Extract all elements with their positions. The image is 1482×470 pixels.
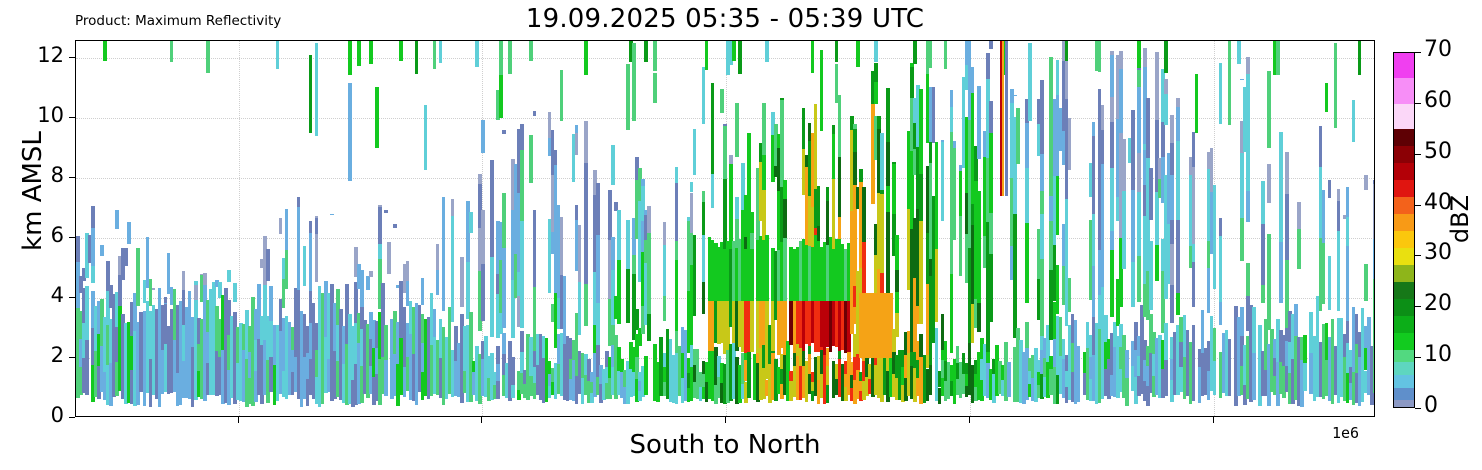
colorbar-segment (1394, 265, 1414, 283)
reflectivity-cell (1040, 191, 1044, 214)
reflectivity-cell (529, 135, 533, 183)
x-tick-mark (481, 417, 482, 423)
reflectivity-cell (103, 41, 107, 61)
reflectivity-cell (977, 266, 981, 303)
reflectivity-cell (910, 67, 914, 97)
reflectivity-cell (499, 41, 503, 75)
reflectivity-cell (1261, 285, 1265, 303)
colorbar-segment (1394, 163, 1414, 181)
reflectivity-cell (1346, 187, 1350, 217)
reflectivity-cell (1337, 231, 1341, 311)
reflectivity-cell (1040, 259, 1044, 336)
reflectivity-cell (369, 271, 373, 277)
reflectivity-cell (575, 205, 579, 221)
reflectivity-cell (100, 245, 104, 256)
y-tick-label: 10 (37, 103, 64, 127)
reflectivity-cell (182, 271, 186, 289)
reflectivity-cell (1110, 51, 1114, 55)
colorbar-tick-mark (1415, 306, 1421, 307)
reflectivity-cell (496, 381, 500, 399)
reflectivity-cell (895, 270, 899, 292)
reflectivity-cell (675, 167, 679, 184)
reflectivity-cell (1373, 180, 1375, 184)
reflectivity-cell (502, 193, 506, 248)
reflectivity-cell (886, 88, 890, 143)
reflectivity-cell (1176, 293, 1180, 315)
colorbar-tick-label: 10 (1424, 342, 1452, 367)
reflectivity-cell (1131, 119, 1135, 190)
colorbar-segment (1394, 362, 1414, 375)
reflectivity-cell (880, 133, 884, 189)
x-axis-label: South to North (75, 430, 1375, 460)
reflectivity-cell (1219, 63, 1223, 124)
colorbar-tick-mark (1415, 408, 1421, 409)
reflectivity-cell (315, 43, 319, 137)
reflectivity-cell (1056, 60, 1060, 95)
reflectivity-cell (451, 271, 455, 322)
reflectivity-cell (944, 41, 948, 69)
colorbar-tick-mark (1415, 205, 1421, 206)
reflectivity-cell (895, 292, 899, 313)
reflectivity-cell (626, 220, 630, 268)
reflectivity-cell (626, 64, 630, 130)
reflectivity-cell (950, 274, 954, 353)
colorbar-label: dBZ (1446, 159, 1474, 279)
reflectivity-cell (520, 150, 524, 221)
colorbar-segment (1394, 146, 1414, 164)
reflectivity-cell (1237, 41, 1241, 64)
reflectivity-cell (1077, 346, 1081, 402)
reflectivity-cell (1155, 52, 1159, 82)
reflectivity-cell (1170, 285, 1174, 323)
reflectivity-cell (814, 104, 818, 130)
reflectivity-cell (641, 179, 645, 185)
reflectivity-cell (1025, 223, 1029, 269)
x-tick-mark (1213, 417, 1214, 423)
reflectivity-cell (1373, 184, 1375, 239)
reflectivity-cell (91, 266, 95, 283)
reflectivity-cell (1040, 82, 1044, 154)
y-tick-mark (69, 417, 75, 418)
reflectivity-cell (762, 155, 766, 189)
reflectivity-cell (913, 41, 917, 64)
reflectivity-cell (384, 325, 388, 360)
reflectivity-cell (702, 191, 706, 202)
reflectivity-cell (729, 155, 733, 164)
reflectivity-cell (1098, 41, 1102, 72)
reflectivity-cell (1276, 41, 1280, 75)
reflectivity-cell (919, 221, 923, 256)
reflectivity-cell (1146, 98, 1150, 158)
reflectivity-cell (1207, 292, 1211, 313)
reflectivity-cell (1328, 180, 1332, 198)
reflectivity-cell (929, 41, 933, 68)
reflectivity-cell (1297, 202, 1301, 229)
reflectivity-cell (977, 246, 981, 266)
reflectivity-cell (953, 148, 957, 196)
reflectivity-cell (617, 260, 621, 324)
reflectivity-cell (814, 130, 818, 190)
reflectivity-cell (1122, 191, 1126, 268)
reflectivity-cell (1279, 177, 1283, 241)
reflectivity-cell (481, 210, 485, 263)
x-tick-mark (969, 417, 970, 423)
reflectivity-cell (780, 100, 784, 187)
reflectivity-cell (266, 249, 270, 281)
radar-cross-section-figure: Product: Maximum Reflectivity 19.09.2025… (0, 0, 1482, 470)
reflectivity-cell (853, 124, 857, 128)
reflectivity-cell (136, 248, 140, 307)
reflectivity-cell (1240, 218, 1244, 260)
reflectivity-cell (315, 218, 319, 234)
reflectivity-cell (1346, 246, 1350, 298)
reflectivity-cell (297, 224, 301, 290)
reflectivity-cell (1101, 287, 1105, 315)
reflectivity-cell (1192, 167, 1196, 244)
reflectivity-cell (511, 357, 515, 371)
reflectivity-cell (711, 174, 715, 207)
reflectivity-cell (765, 235, 769, 301)
colorbar-segment (1394, 53, 1414, 79)
reflectivity-cell (729, 181, 733, 250)
reflectivity-cell (1170, 175, 1174, 219)
reflectivity-cell (1065, 41, 1069, 61)
reflectivity-cell (378, 205, 382, 207)
reflectivity-cell (1092, 266, 1096, 317)
reflectivity-cell (478, 174, 482, 184)
reflectivity-cell (632, 274, 636, 340)
reflectivity-cell (968, 40, 972, 46)
reflectivity-cell (1005, 41, 1008, 196)
colorbar[interactable] (1393, 52, 1415, 408)
y-tick-label: 0 (51, 403, 64, 427)
reflectivity-cell (393, 224, 397, 228)
reflectivity-cell (986, 53, 990, 79)
reflectivity-cell (1192, 325, 1196, 401)
reflectivity-cell (989, 254, 993, 306)
reflectivity-cell (1297, 229, 1301, 269)
reflectivity-cell (941, 142, 945, 221)
reflectivity-cell (1364, 175, 1368, 190)
y-tick-mark (69, 357, 75, 358)
reflectivity-cell (269, 286, 273, 321)
reflectivity-cell (1125, 350, 1129, 378)
colorbar-segment (1394, 375, 1414, 388)
reflectivity-cell (1137, 41, 1141, 68)
reflectivity-cell (1246, 74, 1250, 116)
reflectivity-cell (1056, 176, 1060, 236)
reflectivity-cell (1119, 69, 1123, 133)
reflectivity-cell (1240, 153, 1244, 219)
reflectivity-cell (584, 241, 588, 285)
reflectivity-cell (233, 283, 237, 302)
reflectivity-cell (490, 160, 494, 219)
reflectivity-cell (85, 340, 89, 395)
reflectivity-cell (675, 241, 679, 260)
reflectivity-cell (723, 124, 727, 126)
reflectivity-cell (1303, 363, 1307, 391)
reflectivity-cell (1170, 220, 1174, 244)
reflectivity-cell (554, 165, 558, 209)
reflectivity-cell (817, 186, 821, 227)
reflectivity-cell (303, 246, 307, 285)
reflectivity-cell (91, 228, 95, 266)
colorbar-segment (1394, 282, 1414, 300)
reflectivity-cell (433, 309, 437, 337)
reflectivity-cell (953, 141, 957, 148)
reflectivity-cell (1092, 122, 1096, 136)
reflectivity-cell (832, 134, 836, 159)
reflectivity-cell (502, 130, 506, 133)
reflectivity-cell (989, 101, 993, 133)
y-tick-label: 4 (51, 283, 64, 307)
reflectivity-cell (950, 107, 954, 132)
reflectivity-cell (944, 341, 948, 361)
reflectivity-cell (315, 216, 319, 218)
reflectivity-cell (348, 83, 352, 181)
reflectivity-cell (653, 41, 657, 71)
reflectivity-cell (632, 43, 636, 122)
reflectivity-cell (705, 41, 709, 70)
reflectivity-cell (1322, 190, 1326, 243)
reflectivity-cell (832, 179, 836, 215)
reflectivity-cell (989, 40, 993, 49)
reflectivity-cell (886, 142, 890, 185)
reflectivity-cell (826, 366, 830, 385)
reflectivity-cell (1346, 298, 1350, 322)
reflectivity-cell (1294, 304, 1298, 336)
reflectivity-cell (227, 270, 231, 282)
reflectivity-cell (702, 67, 706, 124)
reflectivity-cell (862, 187, 866, 198)
reflectivity-cell (919, 256, 923, 325)
colorbar-segment (1394, 180, 1414, 198)
reflectivity-cell (1025, 123, 1029, 168)
reflectivity-cell (578, 282, 582, 336)
reflectivity-cell (1240, 79, 1244, 80)
reflectivity-cell (1013, 95, 1017, 96)
reflectivity-cell (1213, 232, 1217, 289)
reflectivity-cell (369, 41, 373, 64)
reflectivity-cell (360, 270, 364, 306)
reflectivity-cell (469, 212, 473, 232)
reflectivity-cell (596, 183, 600, 236)
reflectivity-cell (596, 235, 600, 268)
reflectivity-cell (496, 364, 500, 382)
reflectivity-cell (895, 313, 899, 338)
reflectivity-cell (285, 218, 289, 250)
reflectivity-cell (1068, 118, 1072, 171)
reflectivity-cell (702, 282, 706, 313)
reflectivity-cell (194, 285, 198, 299)
reflectivity-cell (475, 41, 479, 67)
reflectivity-cell (1131, 110, 1135, 119)
reflectivity-cell (802, 108, 806, 150)
reflectivity-cell (1028, 43, 1032, 122)
reflectivity-cell (297, 207, 301, 224)
reflectivity-cell (1068, 278, 1072, 311)
reflectivity-cell (832, 160, 836, 180)
reflectivity-cell (1101, 105, 1105, 129)
reflectivity-cell (309, 55, 313, 133)
reflectivity-cell (1334, 43, 1338, 129)
reflectivity-cell (152, 288, 156, 290)
reflectivity-cell (520, 124, 524, 150)
reflectivity-cell (735, 103, 739, 157)
reflectivity-cell (989, 133, 993, 213)
reflectivity-cell (1325, 83, 1329, 112)
reflectivity-cell (563, 276, 567, 344)
reflectivity-cell (348, 41, 352, 75)
reflectivity-cell (783, 238, 787, 301)
reflectivity-cell (826, 385, 830, 404)
reflectivity-cell (1110, 97, 1114, 121)
reflectivity-cell (1131, 190, 1135, 262)
reflectivity-cell (1213, 328, 1217, 361)
reflectivity-cell (1261, 181, 1265, 224)
reflectivity-cell (502, 333, 506, 354)
reflectivity-cell (1364, 264, 1368, 301)
reflectivity-cell (357, 41, 361, 66)
reflectivity-cell (124, 248, 128, 266)
reflectivity-cell (1040, 154, 1044, 191)
reflectivity-cell (1373, 279, 1375, 308)
reflectivity-cell (635, 309, 639, 330)
reflectivity-cell (560, 217, 564, 275)
reflectivity-cell (617, 210, 621, 260)
reflectivity-cell (859, 169, 863, 182)
colorbar-segment (1394, 248, 1414, 266)
reflectivity-cell (732, 41, 736, 61)
reflectivity-cell (439, 41, 443, 63)
reflectivity-cell (720, 89, 724, 113)
reflectivity-cell (1176, 141, 1180, 220)
reflectivity-cell (1337, 201, 1341, 231)
reflectivity-cell (783, 180, 787, 199)
reflectivity-cell (1170, 244, 1174, 285)
reflectivity-cell (959, 171, 963, 216)
reflectivity-cell (886, 252, 890, 295)
reflectivity-cell (929, 365, 933, 395)
colorbar-segment (1394, 129, 1414, 147)
reflectivity-cell (149, 279, 153, 306)
reflectivity-cell (1161, 122, 1165, 157)
reflectivity-cell (1092, 136, 1096, 193)
reflectivity-cell (1252, 307, 1256, 354)
reflectivity-cell (575, 125, 579, 133)
reflectivity-cell (647, 233, 651, 314)
reflectivity-cell (279, 218, 283, 234)
y-tick-label: 2 (51, 343, 64, 367)
reflectivity-cell (644, 41, 648, 62)
reflectivity-cell (611, 145, 615, 186)
reflectivity-cell (442, 197, 446, 249)
reflectivity-cell (1164, 360, 1168, 396)
colorbar-tick-mark (1415, 103, 1421, 104)
reflectivity-cell (702, 235, 706, 283)
reflectivity-cell (330, 214, 334, 216)
reflectivity-cell (127, 222, 131, 243)
reflectivity-cell (315, 234, 319, 283)
reflectivity-cell (1092, 193, 1096, 214)
reflectivity-cell (1007, 362, 1011, 397)
reflectivity-cell (560, 70, 564, 121)
reflectivity-cell (1192, 262, 1196, 308)
colorbar-tick-label: 20 (1424, 291, 1452, 316)
reflectivity-cell (378, 244, 382, 259)
reflectivity-cell (1219, 302, 1223, 325)
reflectivity-cell (399, 41, 403, 61)
reflectivity-cell (1328, 256, 1332, 310)
reflectivity-cell (1228, 60, 1232, 125)
reflectivity-cell (1210, 148, 1214, 167)
reflectivity-cell (584, 122, 588, 163)
reflectivity-cell (1319, 126, 1323, 168)
reflectivity-cell (584, 121, 588, 122)
reflectivity-cell (406, 261, 410, 282)
x-axis-offset-text: 1e6 (1332, 424, 1359, 442)
reflectivity-cell (1110, 122, 1114, 168)
colorbar-segment (1394, 231, 1414, 249)
reflectivity-cell (886, 212, 890, 252)
reflectivity-cell (747, 133, 751, 169)
reflectivity-cell (832, 125, 836, 135)
reflectivity-cell (886, 186, 890, 212)
reflectivity-cell (644, 375, 648, 394)
reflectivity-cell (919, 89, 923, 109)
plot-area[interactable] (75, 40, 1375, 417)
reflectivity-cell (693, 235, 697, 315)
y-tick-mark (69, 177, 75, 178)
reflectivity-cell (578, 225, 582, 282)
reflectivity-cell (765, 41, 769, 62)
reflectivity-cell (1261, 254, 1265, 285)
reflectivity-cell (451, 199, 455, 215)
colorbar-tick-label: 60 (1424, 88, 1452, 113)
x-tick-mark (238, 417, 239, 423)
reflectivity-cell (511, 385, 515, 399)
y-tick-label: 6 (51, 223, 64, 247)
reflectivity-cell (421, 278, 425, 305)
reflectivity-cell (1137, 87, 1141, 113)
y-tick-mark (69, 117, 75, 118)
reflectivity-cell (941, 140, 945, 142)
colorbar-tick-label: 0 (1424, 393, 1438, 418)
reflectivity-cell (1303, 335, 1307, 363)
reflectivity-cell (977, 86, 981, 159)
colorbar-tick-mark (1415, 52, 1421, 53)
reflectivity-cell (702, 202, 706, 235)
reflectivity-cell (170, 41, 174, 62)
reflectivity-cell (1213, 361, 1217, 394)
reflectivity-cell (663, 222, 667, 245)
reflectivity-cell (750, 249, 754, 301)
reflectivity-cell (460, 257, 464, 306)
y-tick-mark (69, 57, 75, 58)
reflectivity-cell (935, 142, 939, 176)
reflectivity-cell (892, 162, 896, 164)
reflectivity-cell (663, 296, 667, 320)
reflectivity-cell (1358, 41, 1362, 75)
reflectivity-cell (1322, 243, 1326, 304)
reflectivity-cell (750, 212, 754, 233)
reflectivity-cell (1219, 218, 1223, 236)
reflectivity-cell (1192, 244, 1196, 261)
colorbar-segment (1394, 316, 1414, 334)
reflectivity-cell (309, 233, 313, 291)
reflectivity-cell (1149, 241, 1153, 287)
reflectivity-cell (529, 41, 533, 61)
